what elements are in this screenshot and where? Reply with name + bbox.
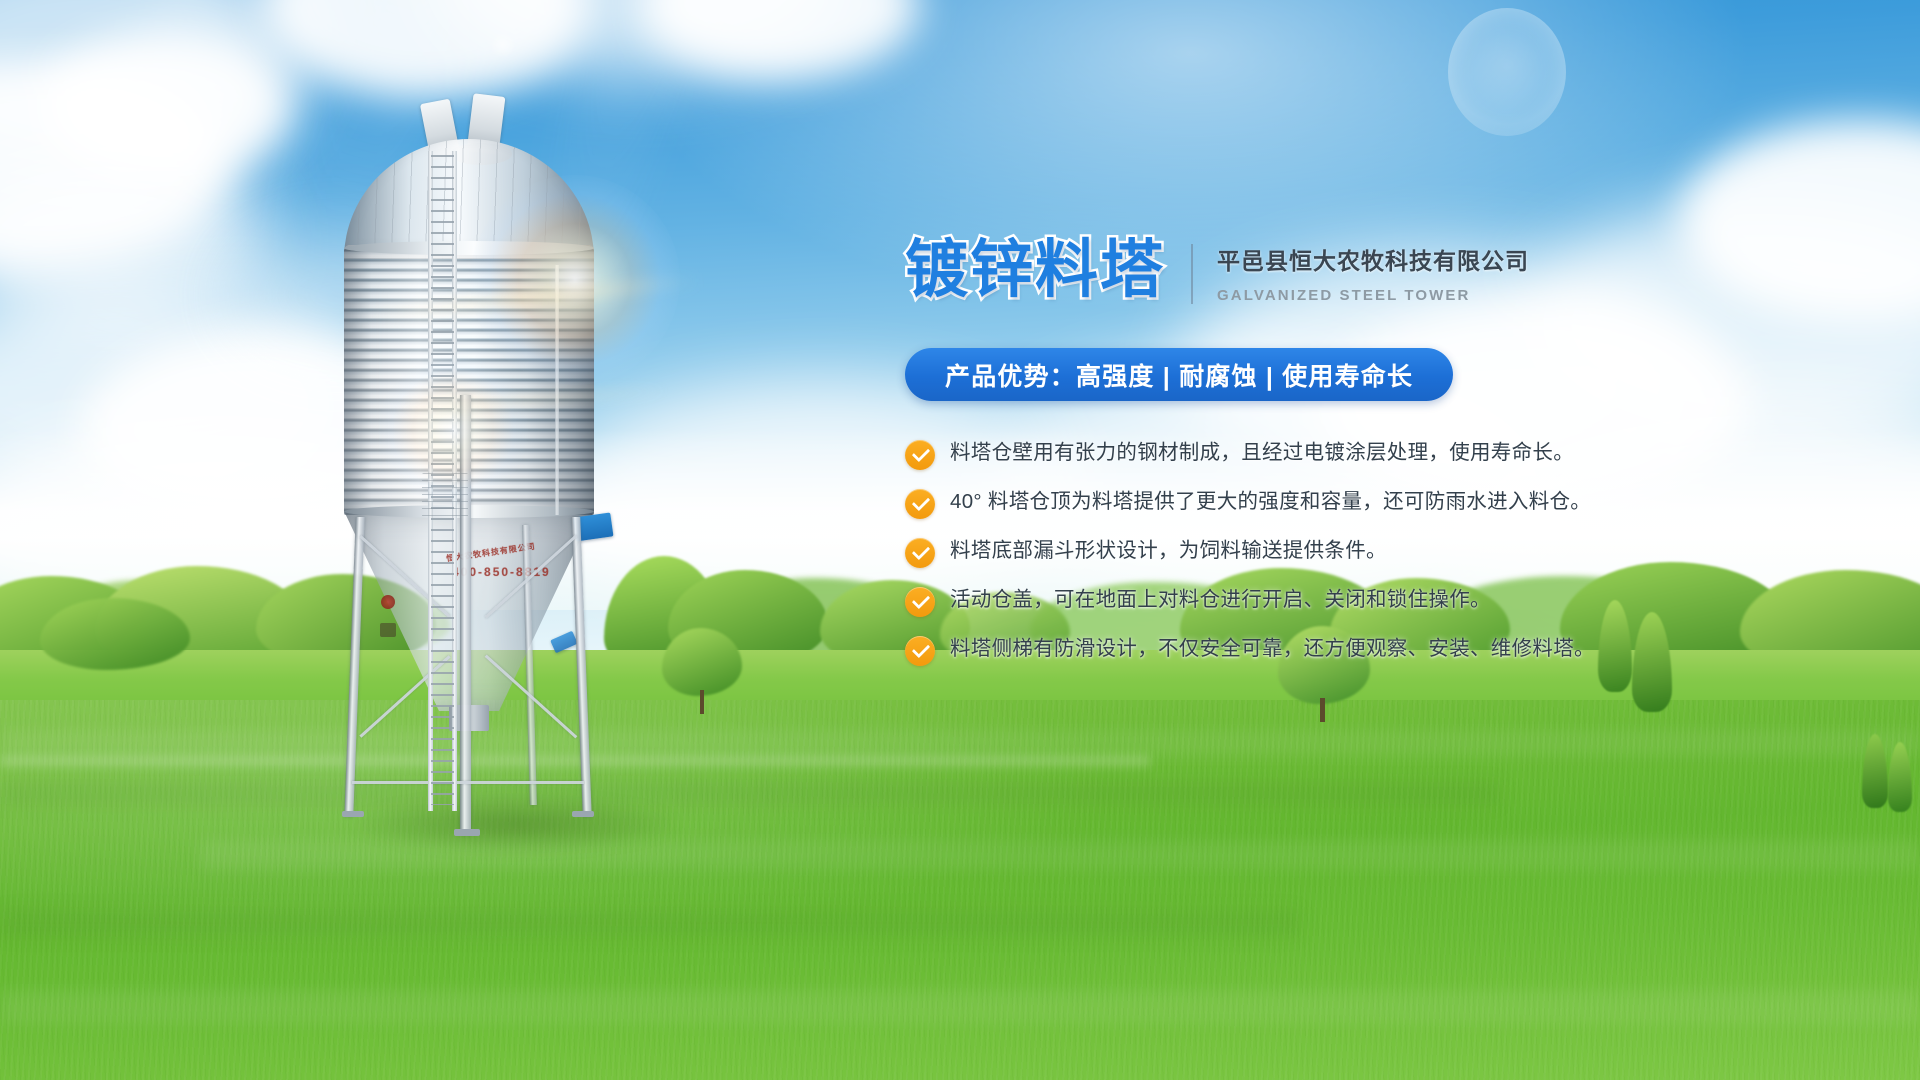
check-circle-icon [905,489,935,519]
silo-support-leg [460,395,471,835]
silo-ground-shadow [350,795,680,853]
blue-conveyor-pipe [550,631,578,654]
check-circle-icon [905,587,935,617]
galvanized-feed-silo: 恒大农牧科技有限公司 400-850-8819 [330,95,750,895]
silo-foot-pad [454,829,480,836]
list-item: 料塔底部漏斗形状设计，为饲料输送提供条件。 [905,537,1605,568]
check-circle-icon [905,538,935,568]
silo-side-ladder-rail [555,265,559,515]
banner-stage: 恒大农牧科技有限公司 400-850-8819 [0,0,1920,1080]
product-advantages-badge: 产品优势：高强度 | 耐腐蚀 | 使用寿命长 [905,348,1453,401]
silo-top-rim [344,241,594,255]
banner-text-panel: 镀锌料塔 平邑县恒大农牧科技有限公司 GALVANIZED STEEL TOWE… [905,238,1605,684]
check-circle-icon [905,440,935,470]
silo-support-leg [344,517,365,817]
page-title: 镀锌料塔 [905,238,1165,301]
cone-access-port [380,623,396,637]
check-circle-icon [905,636,935,666]
feature-text: 40° 料塔仓顶为料塔提供了更大的强度和容量，还可防雨水进入料仓。 [950,488,1591,515]
silo-mid-bracket [422,473,468,517]
cone-valve-handle [381,595,395,609]
title-meta: 平邑县恒大农牧科技有限公司 GALVANIZED STEEL TOWER [1217,238,1529,304]
title-row: 镀锌料塔 平邑县恒大农牧科技有限公司 GALVANIZED STEEL TOWE… [905,238,1605,304]
lens-flare-dot [490,32,516,58]
subtitle-english: GALVANIZED STEEL TOWER [1217,287,1529,304]
lens-flare-orb [1448,8,1566,136]
silo-support-leg [571,517,592,817]
silo-base-tie [352,781,584,784]
list-item: 料塔侧梯有防滑设计，不仅安全可靠，还方便观察、安装、维修料塔。 [905,635,1605,666]
silo-foot-pad [572,811,594,817]
feature-text: 料塔侧梯有防滑设计，不仅安全可靠，还方便观察、安装、维修料塔。 [950,635,1595,662]
feature-text: 料塔仓壁用有张力的钢材制成，且经过电镀涂层处理，使用寿命长。 [950,439,1574,466]
title-divider [1191,244,1193,304]
company-name: 平邑县恒大农牧科技有限公司 [1217,242,1529,276]
silo-foot-pad [342,811,364,817]
feature-text: 活动仓盖，可在地面上对料仓进行开启、关闭和锁住操作。 [950,586,1491,613]
list-item: 40° 料塔仓顶为料塔提供了更大的强度和容量，还可防雨水进入料仓。 [905,488,1605,519]
list-item: 活动仓盖，可在地面上对料仓进行开启、关闭和锁住操作。 [905,586,1605,617]
cloud-decoration [40,30,290,180]
feature-text: 料塔底部漏斗形状设计，为饲料输送提供条件。 [950,537,1387,564]
feature-list: 料塔仓壁用有张力的钢材制成，且经过电镀涂层处理，使用寿命长。 40° 料塔仓顶为… [905,439,1605,666]
tree-trunk [1320,698,1325,722]
list-item: 料塔仓壁用有张力的钢材制成，且经过电镀涂层处理，使用寿命长。 [905,439,1605,470]
